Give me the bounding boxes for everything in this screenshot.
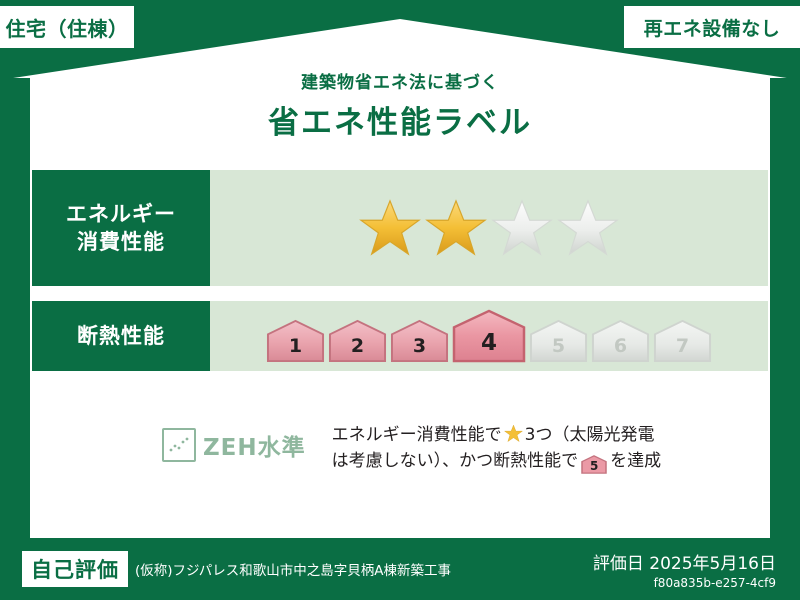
insulation-badge-3-value: 3 <box>413 335 426 363</box>
insulation-badge-5: 5 <box>529 319 588 363</box>
zeh-desc-part2: は考慮しない）、かつ断熱性能で <box>332 451 579 471</box>
insulation-badge-1: 1 <box>266 319 325 363</box>
title-subtitle: 建築物省エネ法に基づく <box>0 68 800 93</box>
insulation-badge-7-value: 7 <box>676 335 689 363</box>
insulation-badge-6: 6 <box>591 319 650 363</box>
insulation-level-badges: 1 2 3 <box>266 309 712 363</box>
insulation-badge-1-value: 1 <box>289 335 302 363</box>
self-evaluation-badge: 自己評価 <box>22 551 128 587</box>
title-block: 建築物省エネ法に基づく 省エネ性能ラベル <box>0 68 800 142</box>
insulation-badge-4-value: 4 <box>481 330 497 363</box>
energy-performance-label: 住宅（住棟） 再エネ設備なし 建築物省エネ法に基づく 省エネ性能ラベル エネルギ… <box>0 0 800 600</box>
row-insulation-label: 断熱性能 <box>32 301 210 371</box>
row-insulation-body: 1 2 3 <box>210 301 768 371</box>
evaluation-id: f80a835b-e257-4cf9 <box>593 576 776 590</box>
footer-right: 評価日 2025年5月16日 f80a835b-e257-4cf9 <box>593 549 776 590</box>
zeh-desc-part1: エネルギー消費性能で <box>332 425 502 445</box>
star-icon-filled-1 <box>359 197 421 259</box>
star-rating <box>359 197 619 259</box>
insulation-badge-5-value: 5 <box>552 335 565 363</box>
row-energy-label: エネルギー 消費性能 <box>32 170 210 286</box>
zeh-square-icon <box>162 428 196 462</box>
row-energy-body <box>210 170 768 286</box>
house-wall-right <box>770 78 800 538</box>
insulation-badge-2-value: 2 <box>351 335 364 363</box>
zeh-description: エネルギー消費性能で3つ（太陽光発電 は考慮しない）、かつ断熱性能で5を達成 <box>332 422 662 475</box>
tag-building-type: 住宅（住棟） <box>0 6 134 48</box>
star-icon-empty-3 <box>491 197 553 259</box>
zeh-mark-label: ZEH水準 <box>203 428 306 462</box>
evaluation-date: 評価日 2025年5月16日 <box>593 549 776 574</box>
zeh-mark: ZEH水準 <box>162 428 306 462</box>
star-icon-filled-2 <box>425 197 487 259</box>
building-name: (仮称)フジパレス和歌山市中之島字貝柄A棟新築工事 <box>135 559 451 579</box>
footer-left: 自己評価 (仮称)フジパレス和歌山市中之島字貝柄A棟新築工事 <box>22 551 451 587</box>
zeh-section: ZEH水準 エネルギー消費性能で3つ（太陽光発電 は考慮しない）、かつ断熱性能で… <box>32 418 768 475</box>
insulation-badge-2: 2 <box>328 319 387 363</box>
star-icon-inline <box>504 424 523 443</box>
inline-badge-value: 5 <box>581 455 607 478</box>
page-title: 省エネ性能ラベル <box>0 97 800 142</box>
row-energy-label-line2: 消費性能 <box>77 228 165 256</box>
rating-rows: エネルギー 消費性能 <box>32 170 768 386</box>
tag-renewable-status: 再エネ設備なし <box>624 6 800 48</box>
row-energy-consumption: エネルギー 消費性能 <box>32 170 768 286</box>
insulation-badge-6-value: 6 <box>614 335 627 363</box>
footer-bar: 自己評価 (仮称)フジパレス和歌山市中之島字貝柄A棟新築工事 評価日 2025年… <box>0 538 800 600</box>
row-insulation: 断熱性能 1 <box>32 301 768 371</box>
insulation-badge-3: 3 <box>390 319 449 363</box>
zeh-desc-part3: を達成 <box>610 451 661 471</box>
row-energy-label-line1: エネルギー <box>66 200 176 228</box>
insulation-badge-7: 7 <box>653 319 712 363</box>
house-wall-left <box>0 78 30 538</box>
insulation-badge-4-achieved: 4 <box>452 309 526 363</box>
star-icon-empty-4 <box>557 197 619 259</box>
zeh-desc-star-count: 3つ（太陽光発電 <box>525 425 655 445</box>
insulation-badge-inline-5: 5 <box>581 455 607 474</box>
